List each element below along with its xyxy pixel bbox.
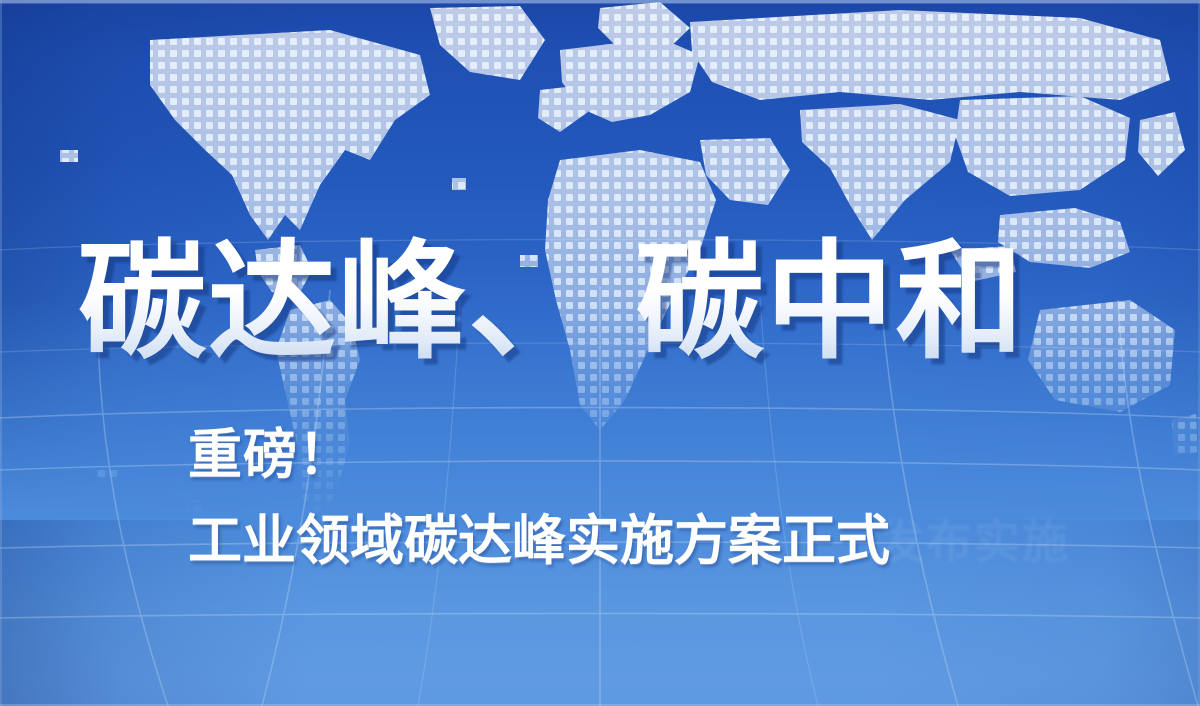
frame-left-edge [0,0,2,706]
subtitle-line-2: 工业领域碳达峰实施方案正式 [188,510,890,572]
subtitle-line-1: 重磅！ [188,424,353,486]
subtitle-line-2-ghost-remnant: 发布实施 [878,514,1070,570]
frame-top-edge [0,0,1200,3]
poster-headline: 碳达峰、 碳中和 [78,232,1138,374]
headline-block: 碳达峰、 碳中和 碳达峰、 碳中和 [78,232,1138,378]
frame-top-highlight [0,3,1200,4]
poster-canvas: 碳达峰、 碳中和 碳达峰、 碳中和 重磅！ 工业领域碳达峰实施方案正式 发布实施 [0,0,1200,706]
